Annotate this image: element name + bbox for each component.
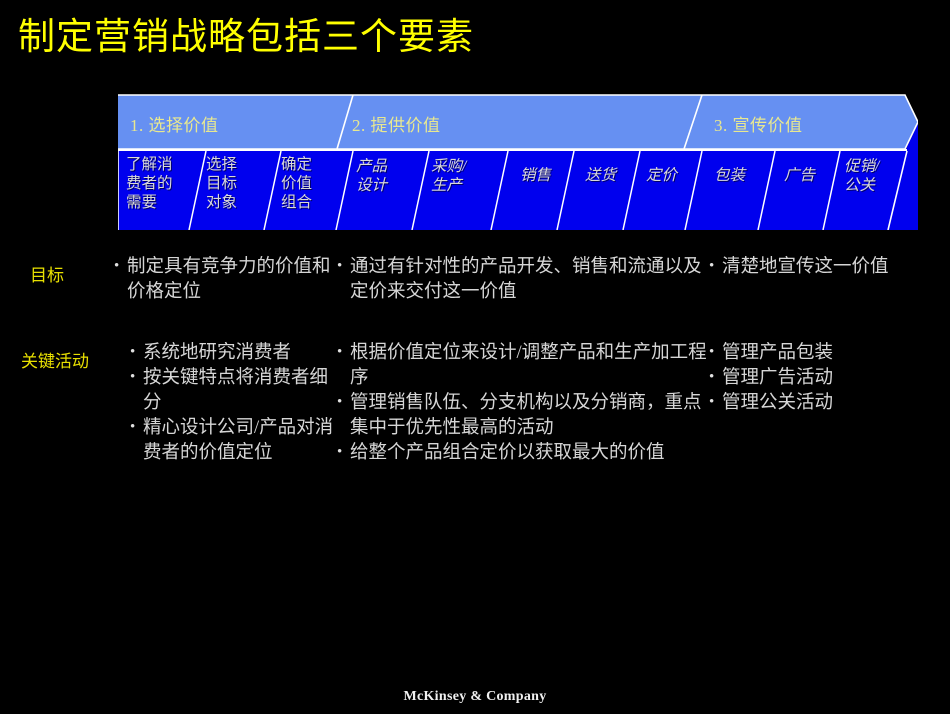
banner-cell-packaging: 包装: [714, 166, 745, 185]
banner-cell-value-mix: 确定 价值 组合: [281, 155, 312, 212]
banner-cell-procure-produce: 采购/ 生产: [431, 157, 466, 195]
row-label-key-activities: 关键活动: [21, 347, 89, 372]
activities-column-1: 系统地研究消费者 按关键特点将消费者细分 精心设计公司/产品对消费者的价值定位: [130, 341, 338, 466]
value-delivery-banner: 1. 选择价值 2. 提供价值 3. 宣传价值 了解消 费者的 需要 选择 目标…: [118, 93, 918, 230]
list-item: 系统地研究消费者: [130, 341, 338, 366]
banner-cell-advertising: 广告: [784, 166, 815, 185]
list-item: 制定具有竞争力的价值和价格定位: [114, 255, 336, 305]
list-item: 清楚地宣传这一价值: [709, 255, 939, 280]
banner-cell-pricing: 定价: [646, 166, 677, 185]
goal-column-1: 制定具有竞争力的价值和价格定位: [114, 255, 336, 305]
list-item: 通过有针对性的产品开发、销售和流通以及定价来交付这一价值: [337, 255, 709, 305]
list-item: 根据价值定位来设计/调整产品和生产加工程序: [337, 341, 709, 391]
banner-cell-product-design: 产品 设计: [356, 157, 387, 195]
list-item: 管理广告活动: [709, 366, 944, 391]
list-item: 精心设计公司/产品对消费者的价值定位: [130, 416, 338, 466]
banner-header-2: 2. 提供价值: [352, 111, 441, 136]
list-item: 给整个产品组合定价以获取最大的价值: [337, 441, 709, 466]
list-item: 管理销售队伍、分支机构以及分销商，重点集中于优先性最高的活动: [337, 391, 709, 441]
goal-column-2: 通过有针对性的产品开发、销售和流通以及定价来交付这一价值: [337, 255, 709, 305]
list-item: 按关键特点将消费者细分: [130, 366, 338, 416]
row-label-goal: 目标: [30, 261, 64, 286]
page-title: 制定营销战略包括三个要素: [18, 13, 474, 61]
mckinsey-logo: McKinsey & Company: [0, 689, 950, 705]
list-item: 管理产品包装: [709, 341, 944, 366]
banner-header-3: 3. 宣传价值: [714, 111, 803, 136]
list-item: 管理公关活动: [709, 391, 944, 416]
activities-column-3: 管理产品包装 管理广告活动 管理公关活动: [709, 341, 944, 416]
banner-header-1: 1. 选择价值: [130, 111, 219, 136]
banner-cell-understand-needs: 了解消 费者的 需要: [126, 155, 173, 212]
banner-cell-target-selection: 选择 目标 对象: [206, 155, 237, 212]
banner-cell-promotion-pr: 促销/ 公关: [844, 157, 879, 195]
goal-column-3: 清楚地宣传这一价值: [709, 255, 939, 280]
banner-cell-sales: 销售: [520, 166, 551, 185]
banner-cell-delivery: 送货: [585, 166, 616, 185]
activities-column-2: 根据价值定位来设计/调整产品和生产加工程序 管理销售队伍、分支机构以及分销商，重…: [337, 341, 709, 466]
